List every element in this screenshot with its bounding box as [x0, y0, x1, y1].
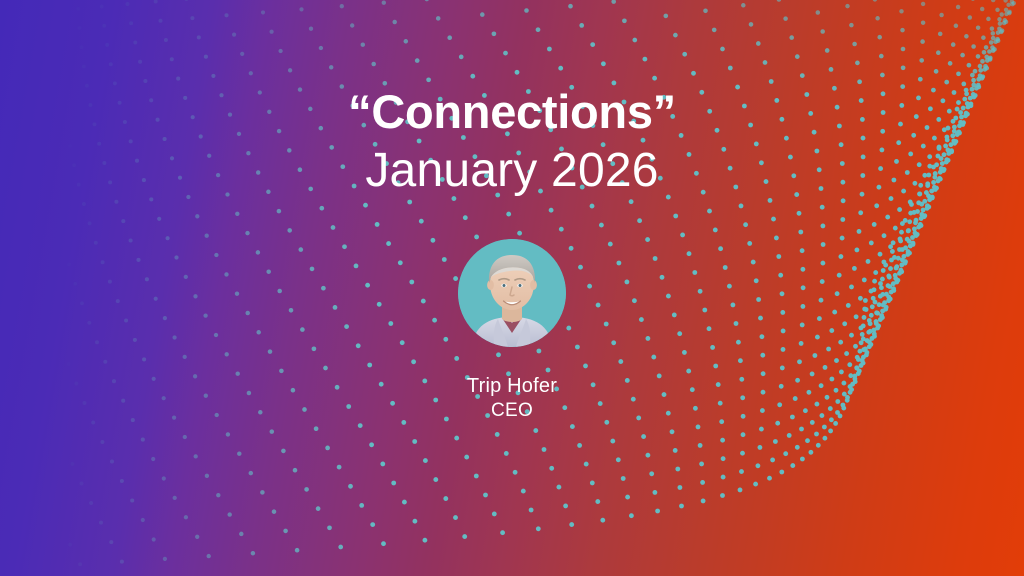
- avatar: [458, 239, 566, 347]
- title-block: “Connections” January 2026: [348, 88, 676, 195]
- speaker-name: Trip Hofer: [467, 374, 557, 399]
- slide-content: “Connections” January 2026: [0, 0, 1024, 576]
- presentation-slide: “Connections” January 2026: [0, 0, 1024, 576]
- speaker-role: CEO: [467, 399, 557, 423]
- slide-subtitle-date: January 2026: [348, 147, 676, 195]
- speaker-info: Trip Hofer CEO: [467, 374, 557, 423]
- slide-title: “Connections”: [348, 88, 676, 135]
